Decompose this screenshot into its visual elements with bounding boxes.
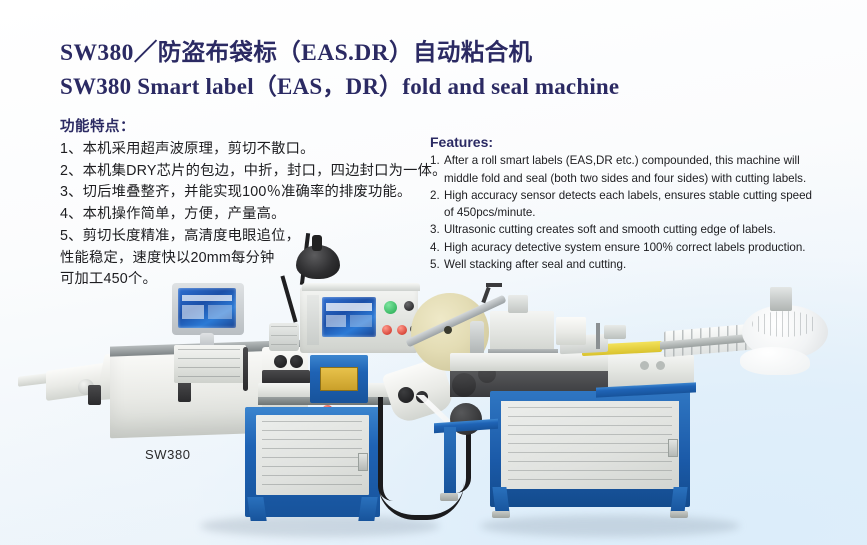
machine-model-caption: SW380 xyxy=(145,447,191,462)
fold-unit-top-box xyxy=(508,295,528,313)
cable xyxy=(243,347,248,391)
page-title-english: SW380 Smart label（EAS，DR）fold and seal m… xyxy=(60,73,760,101)
stop-button[interactable] xyxy=(382,325,392,335)
control-panel-left-edge xyxy=(307,295,319,345)
features-chinese-line: 1、本机采用超声波原理，剪切不散口。 xyxy=(60,139,420,161)
reel-hub xyxy=(444,326,452,334)
hmi-screen-row xyxy=(326,303,372,311)
feature-text: After a roll smart labels (EAS,DR etc.) … xyxy=(444,152,842,169)
leveling-foot xyxy=(492,511,510,518)
leveling-foot xyxy=(440,493,458,501)
page-title-chinese: SW380／防盗布袋标（EAS.DR）自动粘合机 xyxy=(60,40,760,68)
cabinet-vents-right xyxy=(508,407,672,481)
cabinet-handle-left[interactable] xyxy=(358,453,368,471)
stacker-motor-box xyxy=(770,287,792,311)
start-button[interactable] xyxy=(384,301,397,314)
switch-box xyxy=(88,385,101,405)
cabinet-leg xyxy=(670,487,687,513)
cabinet-leg xyxy=(358,497,377,521)
selector-switch[interactable] xyxy=(404,301,414,311)
feature-text: High accuracy sensor detects each labels… xyxy=(444,187,842,204)
feed-roller xyxy=(274,355,287,368)
control-switch xyxy=(178,380,191,402)
stacker-disc-ribs xyxy=(752,311,818,337)
detector-head xyxy=(556,317,586,345)
hmi-screen-block xyxy=(182,305,204,319)
feed-roller xyxy=(290,355,303,368)
feature-number: 2. xyxy=(430,187,444,204)
feature-text-continued: middle fold and seal (both two sides and… xyxy=(430,170,842,187)
sensor-post xyxy=(596,323,600,349)
control-panel-top xyxy=(302,283,420,291)
cabinet-vents-left xyxy=(262,421,362,487)
lamp-neck xyxy=(312,235,322,251)
feature-item: 1. After a roll smart labels (EAS,DR etc… xyxy=(430,152,842,169)
hmi-screen-row xyxy=(182,295,232,301)
hmi-screen-block xyxy=(326,315,346,327)
generator-vents xyxy=(271,326,297,348)
hmi-screen-block xyxy=(208,305,232,319)
feature-text-continued: of 450pcs/minute. xyxy=(430,204,842,221)
reel-guide-arm xyxy=(486,283,502,287)
feature-item: 2. High accuracy sensor detects each lab… xyxy=(430,187,842,204)
features-english-heading: Features: xyxy=(430,134,842,150)
sensor-block xyxy=(604,325,626,339)
hmi-screen-block xyxy=(350,315,372,327)
support-leg xyxy=(444,427,456,495)
features-chinese-line: 4、本机操作简单，方便，产量高。 xyxy=(60,204,420,226)
feature-number: 1. xyxy=(430,152,444,169)
reset-button[interactable] xyxy=(397,325,407,335)
features-chinese-line: 3、切后堆叠整齐，并能实现100％准确率的排废功能。 xyxy=(60,182,420,204)
tension-roller xyxy=(398,387,414,403)
features-chinese-line: 2、本机集DRY芯片的包边，中折，封口，四边封口为一体。 xyxy=(60,161,420,183)
cabinet-handle-right[interactable] xyxy=(668,439,678,457)
machine-photo xyxy=(0,225,867,545)
cabinet-leg xyxy=(247,497,266,521)
title-block: SW380／防盗布袋标（EAS.DR）自动粘合机 SW380 Smart lab… xyxy=(60,40,760,100)
controller-vents xyxy=(178,349,240,379)
cutting-blade-block xyxy=(262,370,310,384)
features-chinese-heading: 功能特点： xyxy=(60,115,420,136)
pneumatic-cylinder xyxy=(470,321,484,355)
nameplate-label xyxy=(320,367,358,391)
leveling-foot xyxy=(670,511,688,518)
product-brochure-page: SW380／防盗布袋标（EAS.DR）自动粘合机 SW380 Smart lab… xyxy=(0,0,867,545)
ground-shadow xyxy=(480,515,740,537)
adjust-knob[interactable] xyxy=(640,361,649,370)
stacker-tray xyxy=(740,347,810,375)
lamp-arm-lower xyxy=(280,275,297,322)
adjust-knob[interactable] xyxy=(656,361,665,370)
